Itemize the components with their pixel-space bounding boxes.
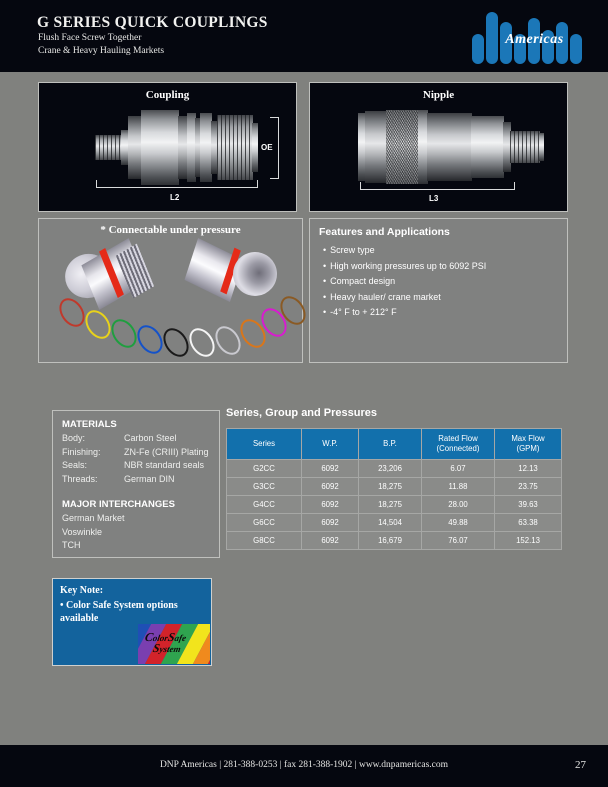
coupling-image-panel: Coupling OE L2 bbox=[38, 82, 297, 212]
table-row: G6CC 6092 14,504 49.88 63.38 bbox=[227, 514, 561, 531]
feature-item: •Heavy hauler/ crane market bbox=[323, 290, 486, 306]
bullet-icon: • bbox=[323, 307, 326, 317]
table-row: G8CC 6092 16,679 76.07 152.13 bbox=[227, 532, 561, 549]
materials-value: Carbon Steel bbox=[124, 432, 177, 446]
cell-rated-flow: 11.88 bbox=[422, 478, 494, 495]
cell-series: G8CC bbox=[227, 532, 301, 549]
l3-dim-line bbox=[360, 189, 515, 190]
table-header-row: Series W.P. B.P. Rated Flow (Connected) … bbox=[227, 429, 561, 459]
table-row: G4CC 6092 18,275 28.00 39.63 bbox=[227, 496, 561, 513]
materials-row: Body: Carbon Steel bbox=[62, 432, 212, 446]
column-header-max-flow: Max Flow (GPM) bbox=[495, 429, 561, 459]
features-title: Features and Applications bbox=[319, 226, 450, 238]
coupler-iso-right bbox=[183, 244, 275, 302]
page-subtitle-2: Crane & Heavy Hauling Markets bbox=[38, 46, 164, 56]
cell-max-flow: 63.38 bbox=[495, 514, 561, 531]
connectable-under-pressure-title: * Connectable under pressure bbox=[39, 224, 302, 236]
features-list: •Screw type •High working pressures up t… bbox=[323, 243, 486, 321]
materials-row: Seals: NBR standard seals bbox=[62, 459, 212, 473]
cell-rated-flow: 76.07 bbox=[422, 532, 494, 549]
coupling-panel-title: Coupling bbox=[39, 89, 296, 101]
column-header-wp: W.P. bbox=[302, 429, 358, 459]
cell-series: G3CC bbox=[227, 478, 301, 495]
cell-series: G6CC bbox=[227, 514, 301, 531]
cell-max-flow: 152.13 bbox=[495, 532, 561, 549]
cell-rated-flow: 6.07 bbox=[422, 460, 494, 477]
feature-item: •-4° F to + 212° F bbox=[323, 305, 486, 321]
key-note-bullet: • Color Safe System options available bbox=[60, 599, 210, 625]
bullet-icon: • bbox=[323, 245, 326, 255]
cell-bp: 14,504 bbox=[359, 514, 421, 531]
l2-dim-label: L2 bbox=[170, 193, 179, 202]
page-title: G SERIES QUICK COUPLINGS bbox=[37, 14, 268, 32]
specs-table-heading: Series, Group and Pressures bbox=[226, 407, 377, 419]
cell-wp: 6092 bbox=[302, 514, 358, 531]
materials-value: ZN-Fe (CRIII) Plating bbox=[124, 446, 209, 460]
cell-series: G4CC bbox=[227, 496, 301, 513]
color-ring bbox=[158, 323, 194, 361]
cell-bp: 18,275 bbox=[359, 496, 421, 513]
materials-key: Seals: bbox=[62, 459, 124, 473]
l2-dim-line bbox=[96, 187, 258, 188]
dnp-americas-logo: Americas bbox=[470, 12, 585, 64]
cell-bp: 23,206 bbox=[359, 460, 421, 477]
bullet-icon: • bbox=[323, 276, 326, 286]
key-note-title: Key Note: bbox=[60, 585, 103, 596]
bullet-icon: • bbox=[323, 292, 326, 302]
color-ring bbox=[184, 323, 220, 361]
connectable-under-pressure-panel: * Connectable under pressure bbox=[38, 218, 303, 363]
materials-key: Finishing: bbox=[62, 446, 124, 460]
color-ring bbox=[80, 305, 116, 343]
page-subtitle-1: Flush Face Screw Together bbox=[38, 33, 141, 43]
feature-item: •High working pressures up to 6092 PSI bbox=[323, 259, 486, 275]
coupler-iso-left bbox=[65, 246, 157, 304]
footer-contact-text: DNP Americas | 281-388-0253 | fax 281-38… bbox=[0, 760, 608, 770]
cell-rated-flow: 28.00 bbox=[422, 496, 494, 513]
column-header-series: Series bbox=[227, 429, 301, 459]
cell-wp: 6092 bbox=[302, 532, 358, 549]
key-note-panel: Key Note: • Color Safe System options av… bbox=[52, 578, 212, 666]
cell-rated-flow: 49.88 bbox=[422, 514, 494, 531]
oe-dim-label: OE bbox=[261, 143, 273, 152]
cell-wp: 6092 bbox=[302, 478, 358, 495]
cell-wp: 6092 bbox=[302, 496, 358, 513]
specs-table: Series W.P. B.P. Rated Flow (Connected) … bbox=[226, 428, 562, 550]
column-header-bp: B.P. bbox=[359, 429, 421, 459]
cell-max-flow: 12.13 bbox=[495, 460, 561, 477]
interchanges-title: MAJOR INTERCHANGES bbox=[62, 499, 212, 510]
materials-key: Threads: bbox=[62, 473, 124, 487]
oe-dim-line bbox=[278, 117, 279, 179]
cell-wp: 6092 bbox=[302, 460, 358, 477]
materials-panel: MATERIALS Body: Carbon Steel Finishing: … bbox=[52, 410, 220, 558]
materials-row: Finishing: ZN-Fe (CRIII) Plating bbox=[62, 446, 212, 460]
cell-bp: 18,275 bbox=[359, 478, 421, 495]
interchange-item: German Market bbox=[62, 512, 212, 526]
logo-word-mark: ColorSafe System bbox=[142, 632, 210, 654]
feature-item: •Screw type bbox=[323, 243, 486, 259]
cell-max-flow: 23.75 bbox=[495, 478, 561, 495]
cell-bp: 16,679 bbox=[359, 532, 421, 549]
materials-value: NBR standard seals bbox=[124, 459, 204, 473]
feature-item: •Compact design bbox=[323, 274, 486, 290]
interchange-item: Voswinkle bbox=[62, 526, 212, 540]
features-and-applications-panel: Features and Applications •Screw type •H… bbox=[309, 218, 568, 363]
materials-row: Threads: German DIN bbox=[62, 473, 212, 487]
nipple-panel-title: Nipple bbox=[310, 89, 567, 101]
page-number: 27 bbox=[575, 759, 586, 771]
cell-series: G2CC bbox=[227, 460, 301, 477]
table-row: G2CC 6092 23,206 6.07 12.13 bbox=[227, 460, 561, 477]
cell-max-flow: 39.63 bbox=[495, 496, 561, 513]
logo-script-text: Americas bbox=[487, 32, 582, 48]
interchange-item: TCH bbox=[62, 539, 212, 553]
column-header-rated-flow: Rated Flow (Connected) bbox=[422, 429, 494, 459]
nipple-image-panel: Nipple L3 bbox=[309, 82, 568, 212]
materials-title: MATERIALS bbox=[62, 419, 212, 430]
l3-dim-label: L3 bbox=[429, 194, 438, 203]
materials-key: Body: bbox=[62, 432, 124, 446]
page-header: G SERIES QUICK COUPLINGS Flush Face Scre… bbox=[0, 0, 608, 72]
page-footer: DNP Americas | 281-388-0253 | fax 281-38… bbox=[0, 745, 608, 787]
materials-value: German DIN bbox=[124, 473, 175, 487]
bullet-icon: • bbox=[323, 261, 326, 271]
color-safe-system-logo: ColorSafe System bbox=[138, 624, 210, 664]
table-row: G3CC 6092 18,275 11.88 23.75 bbox=[227, 478, 561, 495]
